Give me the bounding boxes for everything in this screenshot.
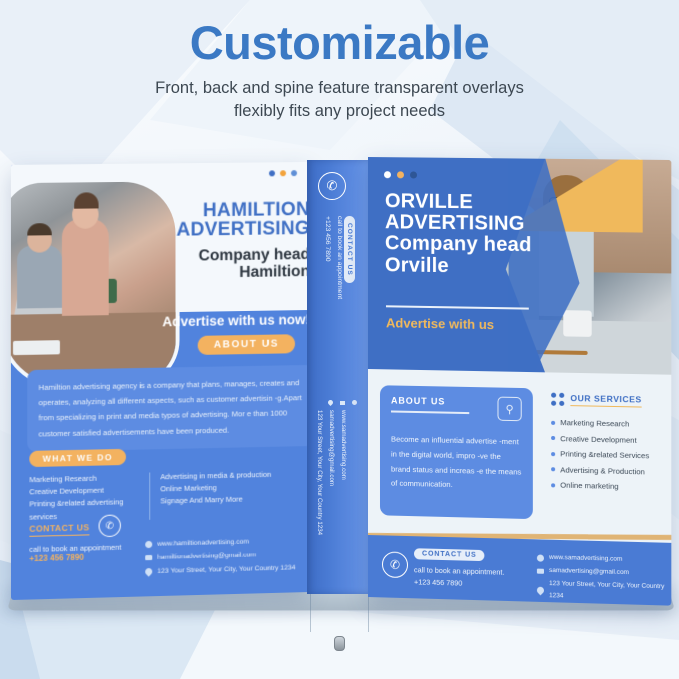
photo-paper — [13, 340, 60, 355]
dot-icon-2 — [280, 170, 286, 176]
spine-contact-badge: CONTACT US — [344, 216, 355, 283]
back-subtitle-line-2: Hamiltion — [153, 263, 309, 283]
front-cover-title: ORVILLE ADVERTISING Company head Orville — [385, 191, 556, 278]
mail-icon — [537, 568, 544, 573]
grid-dots-icon — [551, 393, 564, 406]
front-contact-us-badge: CONTACT US — [414, 548, 485, 561]
front-about-us-body: Become an influential advertise -ment in… — [391, 432, 522, 494]
services-column-left: Marketing Research Creative Development … — [29, 472, 149, 524]
spine-phone-number[interactable]: +123 456 7890 — [324, 216, 331, 262]
phone-icon: ✆ — [318, 172, 346, 200]
binder-mockup: HAMILTION ADVERTISING Company head Hamil… — [0, 140, 679, 610]
subtitle-line-2: flexibly fits any project needs — [234, 102, 445, 120]
binder-clasp — [334, 636, 345, 651]
pin-icon — [535, 585, 545, 595]
back-title-line-2: ADVERTISING — [161, 219, 309, 240]
photo-hair-1 — [74, 192, 98, 208]
spine-call-text: call to book an appointment — [336, 216, 343, 299]
service-item: Signage And Marry More — [160, 493, 300, 508]
mail-icon — [145, 555, 152, 560]
back-cover-title: HAMILTION ADVERTISING — [161, 200, 309, 241]
back-cover-tagline: Advertise with us now! — [133, 312, 309, 330]
service-label: Online marketing — [560, 478, 618, 495]
what-we-do-badge: WHAT WE DO — [29, 449, 126, 467]
back-cover-body-text: Hamiltion advertising agency is a compan… — [27, 365, 309, 452]
bullet-icon — [551, 421, 555, 425]
page-title: Customizable — [0, 18, 679, 67]
spine-link-address: 123 Your Street, Your City, Your Country… — [313, 410, 331, 535]
globe-icon — [537, 554, 544, 561]
dot-icon-3 — [291, 170, 297, 176]
binder-spine: ✆ CONTACT US call to book an appointment… — [307, 160, 369, 594]
services-heading: OUR SERVICES — [570, 393, 641, 408]
dot-icon-2 — [397, 171, 404, 178]
dot-icon-1 — [384, 171, 391, 178]
service-item: Printing &related advertising services — [29, 496, 149, 523]
front-footer-call-text: call to book an appointment. +123 456 78… — [414, 564, 504, 590]
services-column-right: Advertising in media & production Online… — [160, 468, 300, 520]
what-we-do-columns: Marketing Research Creative Development … — [29, 468, 300, 523]
back-cover-panel: HAMILTION ADVERTISING Company head Hamil… — [11, 162, 309, 600]
contact-link-address: 123 Your Street, Your City, Your Country… — [537, 577, 671, 605]
column-divider — [149, 472, 150, 519]
back-about-us-button[interactable]: ABOUT US — [198, 334, 295, 355]
front-cover-tagline: Advertise with us — [386, 315, 494, 332]
globe-icon — [352, 400, 357, 405]
phone-icon: ✆ — [382, 551, 408, 578]
analysis-icon: ⚲ — [497, 397, 521, 422]
front-cover-dots — [384, 171, 417, 178]
back-phone-number[interactable]: +123 456 7890 — [29, 553, 84, 563]
bullet-icon — [551, 468, 555, 472]
service-label: Creative Development — [560, 431, 636, 448]
bullet-icon — [551, 483, 555, 487]
back-contact-links: www.hamiltionadvertising.com hamiltionad… — [145, 534, 295, 578]
spine-link-text: 123 Your Street, Your City, Your Country… — [316, 410, 323, 535]
page-subtitle: Front, back and spine feature transparen… — [0, 77, 679, 122]
back-cover-subtitle: Company head Hamiltion — [153, 246, 309, 283]
back-contact-us-label: CONTACT US — [29, 522, 89, 537]
photo-mug-1 — [563, 310, 591, 337]
front-services-block: OUR SERVICES Marketing Research Creative… — [551, 393, 663, 496]
bullet-icon — [551, 452, 555, 456]
front-cover-footer: ✆ CONTACT US call to book an appointment… — [368, 535, 671, 606]
headline-block: Customizable Front, back and spine featu… — [0, 18, 679, 122]
dot-icon-1 — [269, 170, 275, 176]
services-heading-row: OUR SERVICES — [551, 393, 663, 408]
service-label: Marketing Research — [560, 415, 629, 432]
phone-icon: ✆ — [99, 514, 121, 537]
contact-link-text: 123 Your Street, Your City, Your Country… — [549, 578, 671, 606]
list-item: Online marketing — [551, 478, 663, 496]
pin-icon — [327, 399, 334, 406]
globe-icon — [145, 541, 152, 548]
back-cover-dots — [269, 170, 297, 176]
photo-person-standing — [62, 218, 109, 316]
subtitle-line-1: Front, back and spine feature transparen… — [155, 79, 524, 97]
front-about-us-card: ABOUT US ⚲ Become an influential adverti… — [380, 385, 533, 519]
front-cover-panel: ORVILLE ADVERTISING Company head Orville… — [368, 157, 671, 606]
about-heading-rule — [391, 410, 469, 414]
pin-icon — [144, 566, 154, 576]
back-cover-photo — [11, 181, 176, 385]
mail-icon — [340, 401, 345, 405]
bullet-icon — [551, 436, 555, 440]
services-list: Marketing Research Creative Development … — [551, 415, 663, 496]
back-subtitle-line-1: Company head — [153, 246, 309, 266]
dot-icon-3 — [410, 171, 417, 178]
front-title-line-4: Orville — [385, 255, 556, 279]
photo-hair-2 — [27, 223, 51, 235]
contact-link-address: 123 Your Street, Your City, Your Country… — [145, 561, 295, 578]
photo-person-seated — [17, 245, 62, 308]
contact-link-text: 123 Your Street, Your City, Your Country… — [157, 561, 295, 578]
front-footer-links: www.samadvertising.com samadvertising@gm… — [537, 551, 671, 605]
